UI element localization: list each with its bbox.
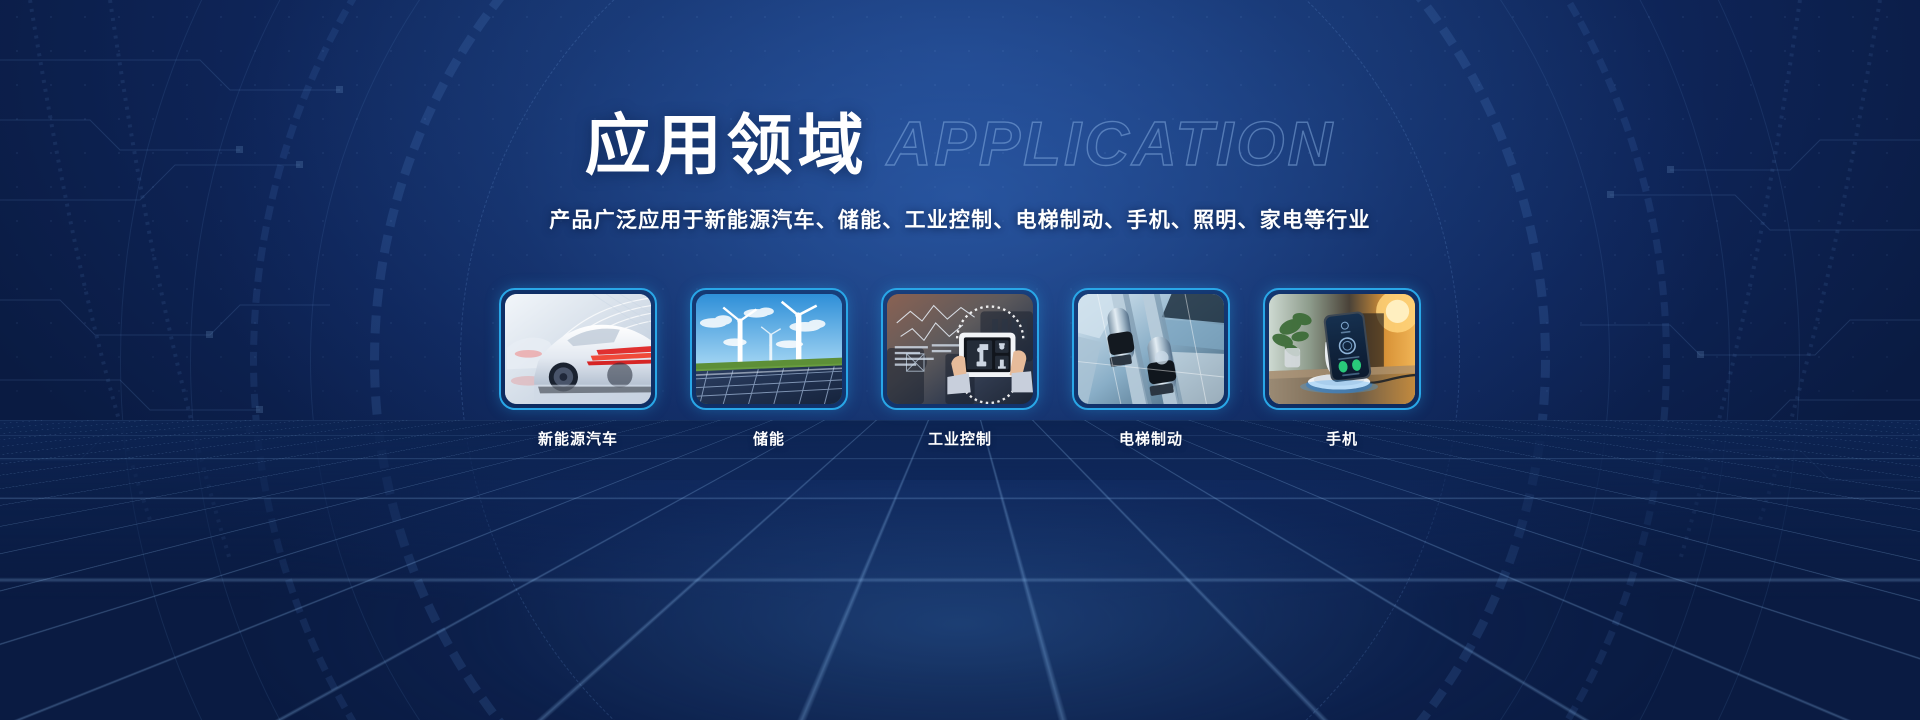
card-ev-car-image <box>505 294 651 404</box>
card-mobile-phone-image <box>1269 294 1415 404</box>
card-elevator-brake-image <box>1078 294 1224 404</box>
card-industrial-control-image <box>887 294 1033 404</box>
application-banner: 应用领域 APPLICATION 产品广泛应用于新能源汽车、储能、工业控制、电梯… <box>0 0 1920 720</box>
application-card: 新能源汽车 <box>499 288 657 449</box>
card-ev-car[interactable] <box>499 288 657 410</box>
card-energy-storage[interactable] <box>690 288 848 410</box>
page-subtitle: 产品广泛应用于新能源汽车、储能、工业控制、电梯制动、手机、照明、家电等行业 <box>549 204 1370 234</box>
card-label: 工业控制 <box>928 428 992 449</box>
card-ev-car-icon <box>505 294 651 404</box>
application-card: 储能 <box>690 288 848 449</box>
card-mobile-phone-icon <box>1269 294 1415 404</box>
page-title: 应用领域 <box>585 112 869 178</box>
card-label: 手机 <box>1326 428 1358 449</box>
banner-content: 应用领域 APPLICATION 产品广泛应用于新能源汽车、储能、工业控制、电梯… <box>0 0 1920 720</box>
title-row: 应用领域 APPLICATION <box>585 112 1336 178</box>
card-industrial-control[interactable] <box>881 288 1039 410</box>
card-elevator-brake[interactable] <box>1072 288 1230 410</box>
application-card: 工业控制 <box>881 288 1039 449</box>
card-energy-storage-icon <box>696 294 842 404</box>
card-label: 新能源汽车 <box>538 428 618 449</box>
card-mobile-phone[interactable] <box>1263 288 1421 410</box>
application-card: 手机 <box>1263 288 1421 449</box>
application-card-list: 新能源汽车 <box>499 288 1421 449</box>
page-title-english: APPLICATION <box>887 114 1336 178</box>
card-industrial-control-icon <box>887 294 1033 404</box>
card-energy-storage-image <box>696 294 842 404</box>
card-label: 储能 <box>753 428 785 449</box>
card-elevator-brake-icon <box>1078 294 1224 404</box>
card-label: 电梯制动 <box>1119 428 1183 449</box>
application-card: 电梯制动 <box>1072 288 1230 449</box>
